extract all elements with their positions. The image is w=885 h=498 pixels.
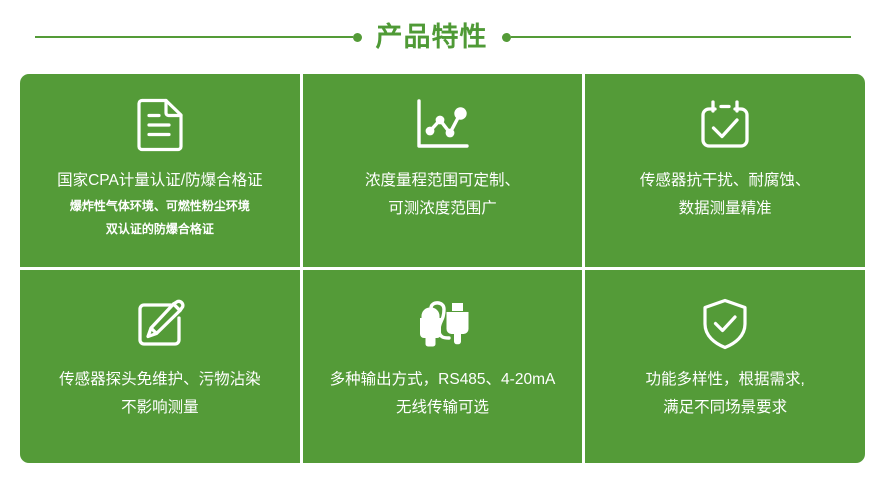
page-title: 产品特性: [362, 24, 502, 51]
feature-title: 传感器探头免维护、污物沾染: [59, 366, 261, 394]
feature-card-measuring-range[interactable]: 浓度量程范围可定制、 可测浓度范围广: [303, 74, 583, 267]
header-dot-left-icon: [353, 33, 362, 42]
header-rule-left: [35, 36, 353, 38]
feature-subtitle-1: 不影响测量: [121, 394, 199, 422]
feature-subtitle-1: 数据测量精准: [679, 195, 772, 223]
feature-title: 浓度量程范围可定制、: [365, 167, 520, 195]
edit-pencil-icon: [128, 292, 192, 356]
feature-card-versatility[interactable]: 功能多样性，根据需求, 满足不同场景要求: [585, 270, 865, 463]
feature-subtitle-1: 满足不同场景要求: [663, 394, 787, 422]
section-header: 产品特性: [0, 0, 885, 74]
document-icon: [128, 93, 192, 157]
feature-title: 多种输出方式，RS485、4-20mA: [330, 366, 556, 394]
feature-subtitle-1: 无线传输可选: [396, 394, 489, 422]
feature-title: 功能多样性，根据需求,: [646, 366, 805, 394]
feature-card-accuracy[interactable]: 传感器抗干扰、耐腐蚀、 数据测量精准: [585, 74, 865, 267]
feature-grid: 国家CPA计量认证/防爆合格证 爆炸性气体环境、可燃性粉尘环境 双认证的防爆合格…: [20, 74, 865, 463]
feature-subtitle-1: 爆炸性气体环境、可燃性粉尘环境: [70, 195, 250, 218]
feature-card-certification[interactable]: 国家CPA计量认证/防爆合格证 爆炸性气体环境、可燃性粉尘环境 双认证的防爆合格…: [20, 74, 300, 267]
line-chart-icon: [410, 93, 474, 157]
feature-card-output-types[interactable]: 多种输出方式，RS485、4-20mA 无线传输可选: [303, 270, 583, 463]
shield-check-icon: [693, 292, 757, 356]
feature-title: 国家CPA计量认证/防爆合格证: [57, 167, 263, 195]
header-rule-right: [511, 36, 851, 38]
feature-title: 传感器抗干扰、耐腐蚀、: [640, 167, 811, 195]
feature-subtitle-2: 双认证的防爆合格证: [106, 218, 214, 241]
header-dot-right-icon: [502, 33, 511, 42]
feature-subtitle-1: 可测浓度范围广: [388, 195, 497, 223]
feature-card-maintenance-free[interactable]: 传感器探头免维护、污物沾染 不影响测量: [20, 270, 300, 463]
usb-cable-icon: [410, 292, 474, 356]
clipboard-check-icon: [693, 93, 757, 157]
